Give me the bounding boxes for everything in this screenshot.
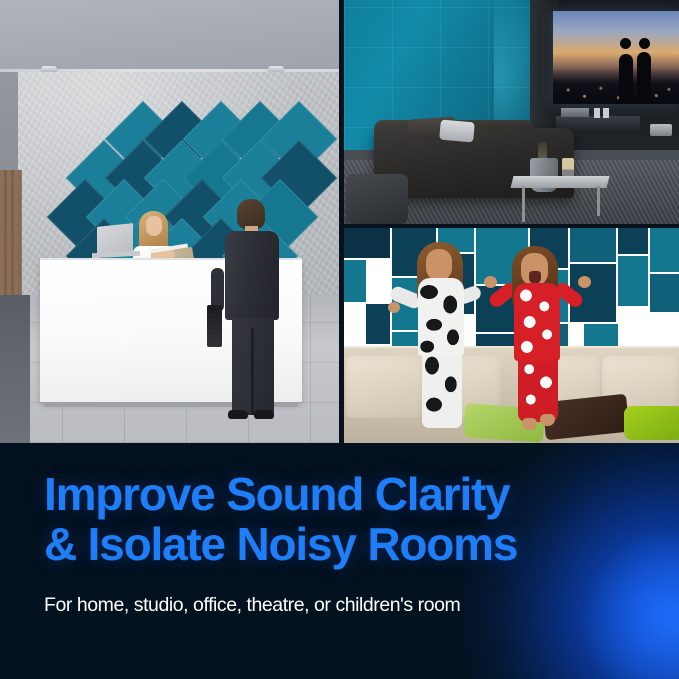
visitor-trousers bbox=[232, 318, 274, 415]
collage-divider-horizontal bbox=[339, 224, 679, 228]
child-two-pyjama-legs bbox=[518, 356, 558, 422]
acoustic-square-panel bbox=[650, 274, 679, 312]
child-one-cow-pyjamas bbox=[418, 278, 464, 356]
child-one-pyjama-legs bbox=[422, 350, 462, 428]
city-skyline bbox=[553, 69, 679, 104]
photo-home-theatre bbox=[344, 0, 679, 224]
visitor-suit-jacket bbox=[225, 231, 279, 320]
subheadline: For home, studio, office, theatre, or ch… bbox=[44, 594, 460, 617]
photo-children-room bbox=[344, 228, 679, 443]
floor-edge bbox=[0, 295, 30, 443]
acoustic-square-panel bbox=[344, 228, 390, 258]
armchair bbox=[346, 174, 408, 224]
child-two-heart-pyjamas bbox=[514, 283, 560, 361]
marketing-banner: Improve Sound Clarity& Isolate Noisy Roo… bbox=[0, 443, 679, 679]
sofa-pillow bbox=[439, 120, 475, 143]
child-two-hand bbox=[578, 276, 591, 288]
visitor-head bbox=[237, 199, 265, 229]
speaker-icon bbox=[594, 108, 600, 118]
coffee-table bbox=[511, 176, 610, 188]
headline-line-1: Improve Sound Clarity bbox=[44, 468, 510, 520]
receptionist-face bbox=[146, 216, 162, 236]
speaker-icon bbox=[603, 108, 609, 118]
briefcase bbox=[207, 305, 222, 347]
ceiling bbox=[0, 0, 339, 72]
av-receiver bbox=[561, 108, 589, 117]
photo-collage bbox=[0, 0, 679, 443]
couple-silhouette bbox=[619, 46, 651, 102]
acoustic-square-panel bbox=[344, 260, 366, 302]
acoustic-square-panel bbox=[618, 256, 648, 306]
collage-divider-vertical bbox=[339, 0, 344, 443]
child-one-hand bbox=[388, 302, 400, 313]
acoustic-square-panel bbox=[618, 228, 648, 254]
acoustic-square-panel bbox=[366, 304, 390, 344]
visitor-shoe bbox=[254, 410, 274, 419]
headline: Improve Sound Clarity& Isolate Noisy Roo… bbox=[44, 469, 517, 569]
green-pillow bbox=[624, 406, 679, 440]
wood-panel bbox=[0, 170, 22, 300]
product-banner-canvas: Improve Sound Clarity& Isolate Noisy Roo… bbox=[0, 0, 679, 679]
table-leg bbox=[522, 186, 525, 222]
photo-office-lobby bbox=[0, 0, 339, 443]
child-one-face bbox=[426, 249, 452, 281]
visitor-shoe bbox=[228, 410, 248, 419]
projector bbox=[650, 124, 672, 136]
banner-content: Improve Sound Clarity& Isolate Noisy Roo… bbox=[44, 443, 644, 679]
acoustic-square-panel bbox=[570, 228, 616, 262]
projector-screen bbox=[553, 11, 679, 104]
headline-line-2: & Isolate Noisy Rooms bbox=[44, 518, 517, 570]
table-leg bbox=[597, 186, 600, 216]
sofa-cushion bbox=[346, 356, 422, 418]
acoustic-square-panel bbox=[650, 228, 679, 272]
child-two-hand bbox=[484, 276, 497, 288]
acoustic-square-panel bbox=[584, 324, 618, 346]
